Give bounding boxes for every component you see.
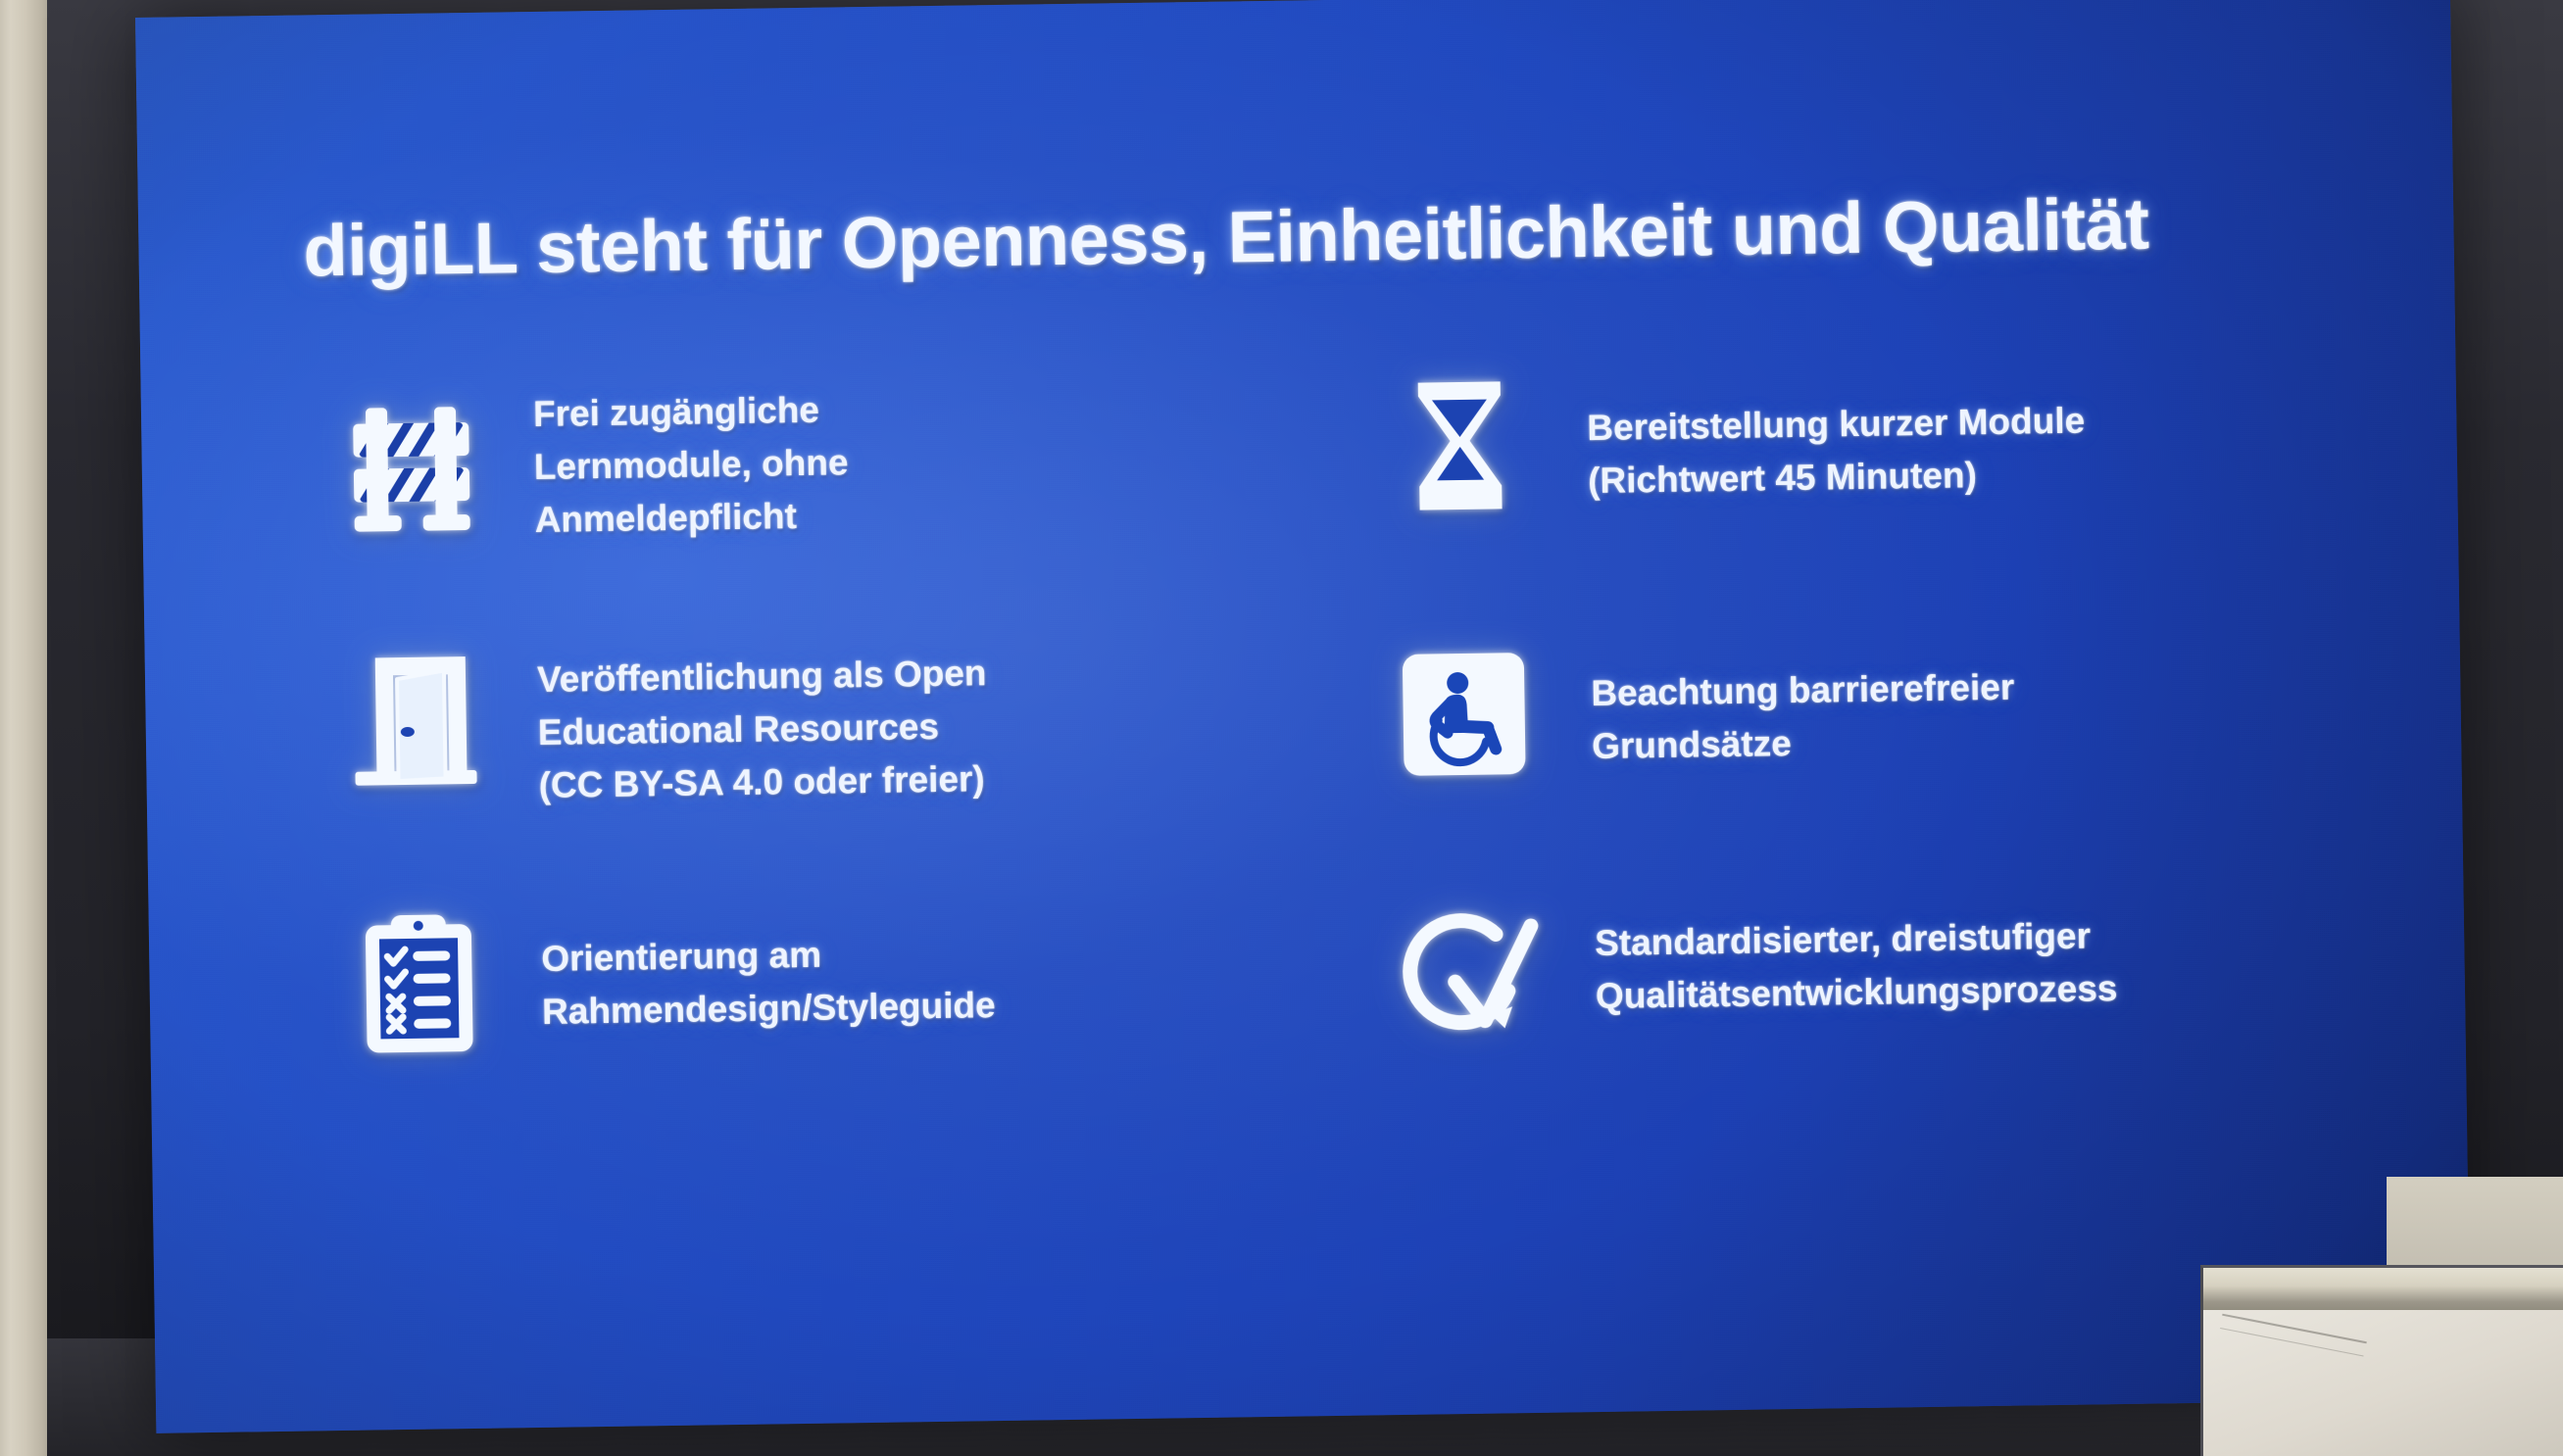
feature-text: Orientierung am Rahmendesign/Styleguide [540,884,1302,1039]
hourglass-icon [1331,361,1588,521]
clipboard-checklist-icon [295,896,542,1060]
feature-item-accessibility: Beachtung barrierefreier Grundsätze [1335,609,2343,884]
feature-line: Anmeldepflicht [534,483,1295,548]
flipchart-easel [2200,1265,2563,1456]
feature-text: Frei zugängliche Lernmodule, ohne Anmeld… [532,365,1294,548]
feature-item-open-access: Frei zugängliche Lernmodule, ohne Anmeld… [288,365,1297,640]
feature-text: Standardisierter, dreistufiger Qualitäts… [1594,869,2345,1023]
wheelchair-accessibility-icon [1335,620,1592,783]
flipchart-rail [2200,1265,2563,1315]
feature-text: Bereitstellung kurzer Module (Richtwert … [1586,350,2338,508]
cycle-check-icon [1339,880,1597,1054]
flipchart-paper [2200,1310,2563,1456]
feature-grid: Frei zugängliche Lernmodule, ohne Anmeld… [288,350,2348,1159]
photo-scene: digiLL steht für Openness, Einheitlichke… [0,0,2563,1456]
feature-item-quality-process: Standardisierter, dreistufiger Qualitäts… [1339,869,2347,1143]
presentation-slide: digiLL steht für Openness, Einheitlichke… [135,0,2471,1433]
feature-line: (CC BY-SA 4.0 oder freier) [538,749,1299,813]
barrier-icon [288,376,535,539]
page-title: digiLL steht für Openness, Einheitlichke… [303,182,2149,293]
feature-line: Qualitätsentwicklungsprozess [1596,959,2346,1023]
feature-item-oer: Veröffentlichung als Open Educational Re… [291,624,1300,898]
feature-item-styleguide: Orientierung am Rahmendesign/Styleguide [295,884,1304,1158]
feature-item-short-modules: Bereitstellung kurzer Module (Richtwert … [1331,350,2340,624]
feature-line: (Richtwert 45 Minuten) [1588,444,2339,508]
feature-text: Veröffentlichung als Open Educational Re… [536,624,1299,812]
projection-screen: digiLL steht für Openness, Einheitlichke… [135,0,2471,1433]
feature-line: Grundsätze [1592,709,2342,773]
open-door-icon [291,636,538,793]
feature-text: Beachtung barrierefreier Grundsätze [1590,609,2341,773]
feature-line: Rahmendesign/Styleguide [542,974,1303,1039]
